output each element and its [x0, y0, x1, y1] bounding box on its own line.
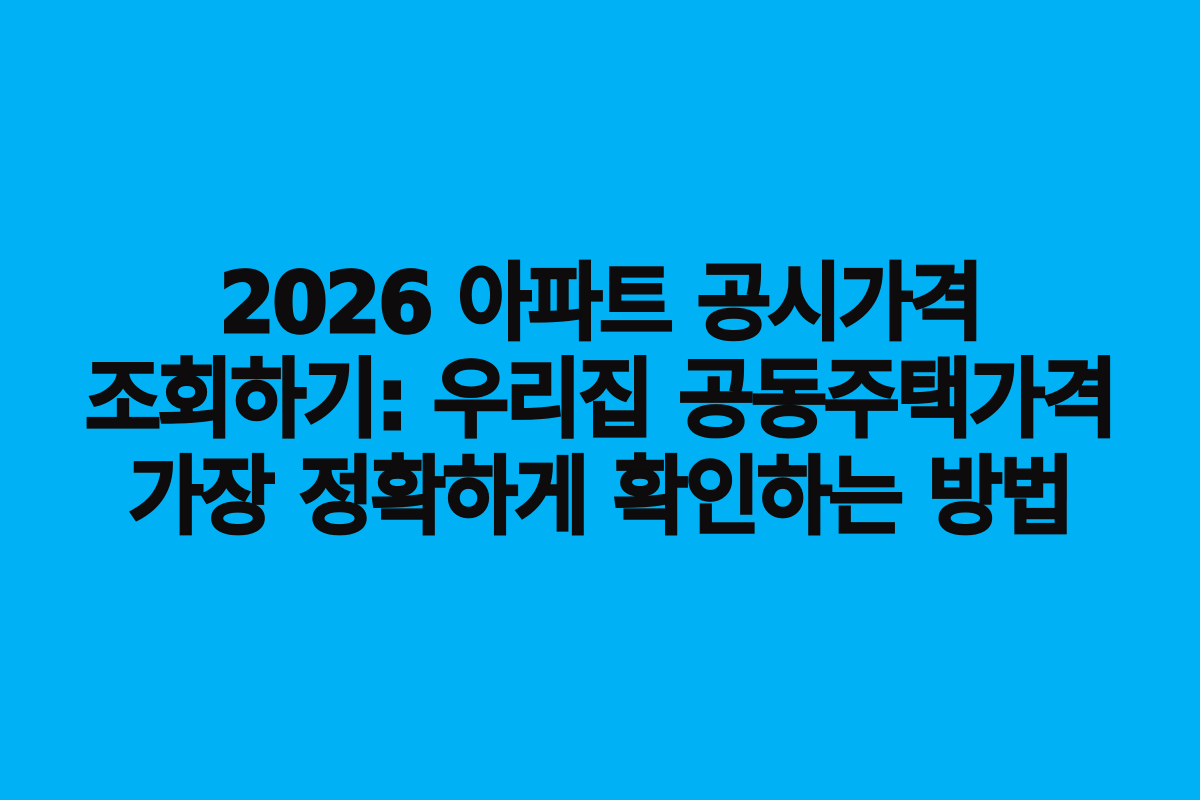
headline-line-1: 2026 아파트 공시가격	[46, 255, 1154, 352]
headline-line-3: 가장 정확하게 확인하는 방법	[46, 449, 1154, 546]
headline-line-2: 조회하기: 우리집 공동주택가격	[46, 352, 1154, 449]
thumbnail-card: 2026 아파트 공시가격 조회하기: 우리집 공동주택가격 가장 정확하게 확…	[0, 0, 1200, 800]
headline-text: 2026 아파트 공시가격 조회하기: 우리집 공동주택가격 가장 정확하게 확…	[46, 255, 1154, 546]
